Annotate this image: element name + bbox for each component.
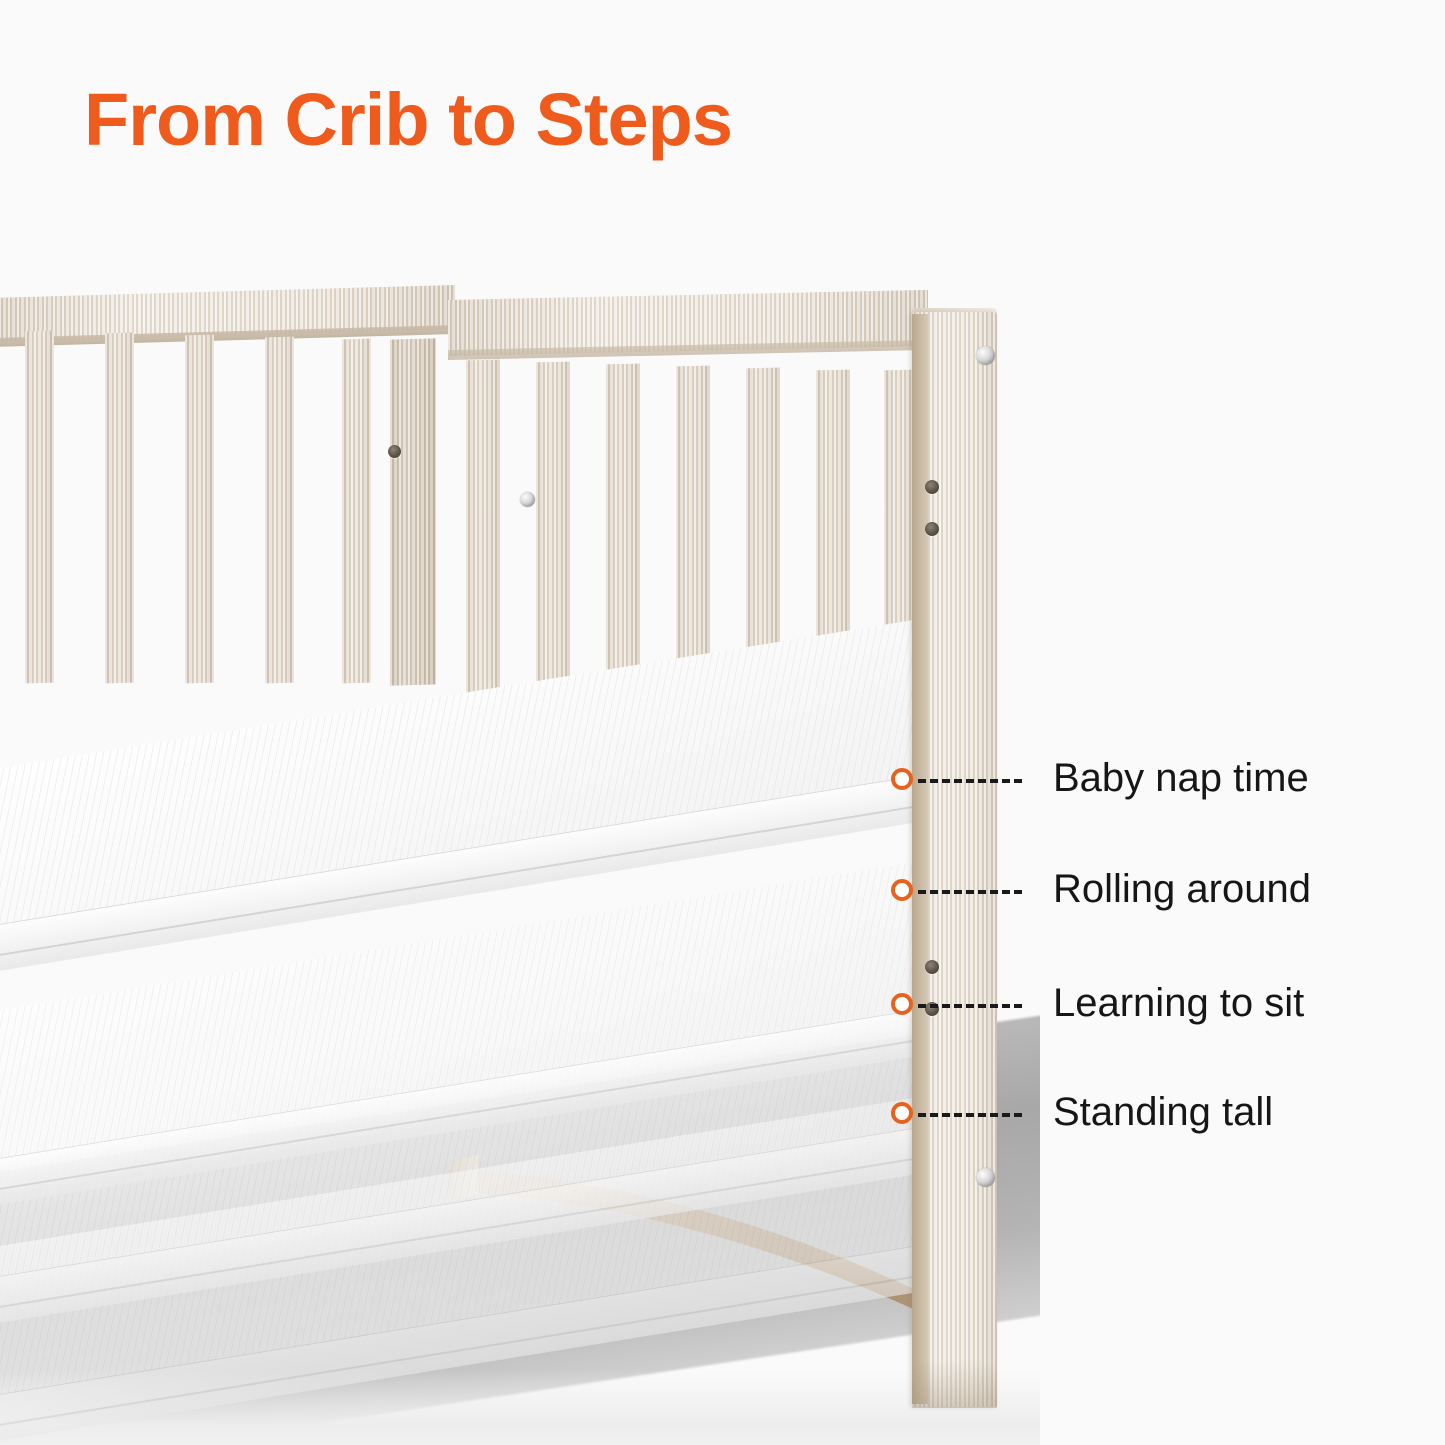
product-photo xyxy=(0,240,1040,1445)
callout-marker-ring-icon xyxy=(891,879,913,901)
callout-leader-line xyxy=(918,779,1022,783)
callout-leader-line xyxy=(918,1113,1022,1117)
infographic-canvas: From Crib to Steps xyxy=(0,0,1445,1445)
screw-icon xyxy=(520,492,535,507)
callout-label-rolling-around: Rolling around xyxy=(1053,869,1311,909)
corner-post-left-face xyxy=(912,314,928,1404)
side-slat xyxy=(265,337,294,684)
callout-label-baby-nap-time: Baby nap time xyxy=(1053,758,1309,798)
screw-icon xyxy=(388,445,401,458)
callout-marker-ring-icon xyxy=(891,1102,913,1124)
page-title: From Crib to Steps xyxy=(84,83,732,157)
crib-side-panel xyxy=(0,285,455,705)
screw-icon xyxy=(976,1168,995,1187)
callout-marker-ring-icon xyxy=(891,768,913,790)
callout-label-standing-tall: Standing tall xyxy=(1053,1092,1273,1132)
callout-label-learning-to-sit: Learning to sit xyxy=(1053,983,1304,1023)
screw-icon xyxy=(976,346,995,365)
callout-leader-line xyxy=(918,890,1022,894)
side-slat xyxy=(25,331,54,684)
end-slat xyxy=(466,360,500,737)
screw-hole-icon xyxy=(925,480,939,494)
screw-hole-icon xyxy=(925,522,939,536)
callout-marker-ring-icon xyxy=(891,993,913,1015)
screw-hole-icon xyxy=(925,960,939,974)
side-slat xyxy=(105,333,134,684)
side-slat xyxy=(185,335,214,684)
side-corner-stile xyxy=(390,338,436,685)
callout-leader-line xyxy=(918,1004,1022,1008)
corner-post-shadow xyxy=(912,1360,997,1408)
side-slat xyxy=(342,339,371,684)
